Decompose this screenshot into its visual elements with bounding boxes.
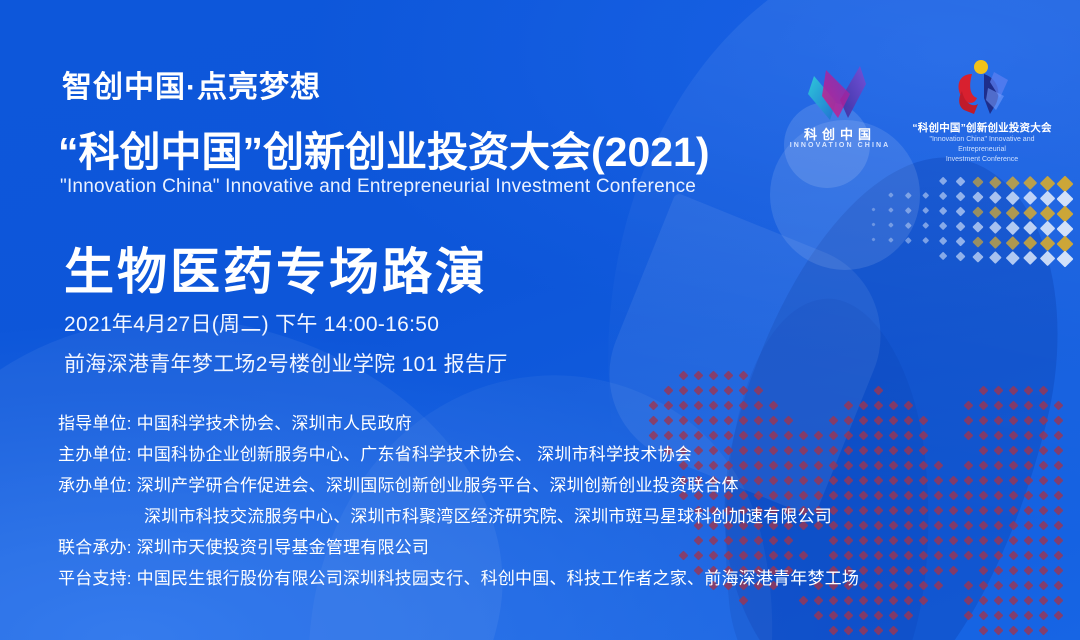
diamond-dot [919, 446, 929, 456]
organizer-value: 中国科协企业创新服务中心、广东省科学技术协会、 深圳市科学技术协会 [137, 445, 692, 464]
diamond-dot [874, 521, 884, 531]
diamond-dot [979, 461, 989, 471]
diamond-dot [1024, 386, 1034, 396]
diamond-dot [1039, 491, 1049, 501]
diamond-dot [1009, 551, 1019, 561]
diamond-dot [679, 371, 689, 381]
diamond-dot [949, 536, 959, 546]
diamond-dot [904, 401, 914, 411]
diamond-dot [889, 611, 899, 621]
diamond-dot [919, 581, 929, 591]
diamond-dot [888, 237, 893, 242]
diamond-dot [889, 536, 899, 546]
diamond-dot [1009, 416, 1019, 426]
diamond-dot [1054, 551, 1064, 561]
poster-title-en: "Innovation China" Innovative and Entrep… [60, 176, 696, 198]
diamond-dot [889, 461, 899, 471]
diamond-dot [874, 461, 884, 471]
session-title: 生物医药专场路演 [64, 232, 488, 304]
diamond-dot [859, 476, 869, 486]
diamond-dot [829, 611, 839, 621]
diamond-dot [844, 611, 854, 621]
diamond-dot [874, 566, 884, 576]
diamond-dot [874, 581, 884, 591]
diamond-dot [1009, 401, 1019, 411]
diamond-dot [904, 431, 914, 441]
diamond-dot [989, 176, 1001, 188]
diamond-dot [904, 476, 914, 486]
diamond-dot [709, 371, 719, 381]
diamond-dot [889, 581, 899, 591]
session-venue: 前海深港青年梦工场2号楼创业学院 101 报告厅 [64, 348, 508, 378]
diamond-dot [934, 506, 944, 516]
organizer-row: 主办单位: 中国科协企业创新服务中心、广东省科学技术协会、 深圳市科学技术协会 [58, 439, 859, 470]
diamond-dot [1006, 191, 1019, 204]
diamond-dot [859, 551, 869, 561]
diamond-dot [874, 446, 884, 456]
poster-title-cn: “科创中国”创新创业投资大会(2021) [58, 118, 710, 178]
diamond-dot [1023, 176, 1038, 191]
diamond-dot [814, 611, 824, 621]
diamond-dot [874, 596, 884, 606]
diamond-dot [939, 207, 948, 216]
diamond-dot [989, 236, 1001, 248]
organizer-row: 深圳市科技交流服务中心、深圳市科聚湾区经济研究院、深圳市斑马星球科创加速有限公司 [58, 501, 859, 532]
diamond-dot [919, 491, 929, 501]
diamond-dot [994, 386, 1004, 396]
diamond-dot [934, 521, 944, 531]
diamond-dot [874, 626, 884, 636]
diamond-dot [874, 536, 884, 546]
diamond-dot [904, 506, 914, 516]
diamond-dot [889, 491, 899, 501]
diamond-dot [1006, 251, 1019, 264]
diamond-dot [904, 521, 914, 531]
diamond-dot [1054, 401, 1064, 411]
diamond-dot [1039, 521, 1049, 531]
diamond-dot [1009, 581, 1019, 591]
diamond-dot [939, 237, 948, 246]
diamond-dot [994, 611, 1004, 621]
diamond-dot [1054, 566, 1064, 576]
diamond-dot [1039, 401, 1049, 411]
diamond-dot [1023, 251, 1038, 266]
organizer-value: 中国科学技术协会、深圳市人民政府 [137, 414, 412, 433]
diamond-dot [994, 506, 1004, 516]
diamond-dot [1006, 206, 1019, 219]
diamond-dot [1009, 461, 1019, 471]
diamond-dot [1040, 206, 1056, 222]
diamond-dot [934, 491, 944, 501]
diamond-dot [859, 446, 869, 456]
diamond-dot [956, 222, 966, 232]
diamond-dot [859, 566, 869, 576]
diamond-dot [1024, 566, 1034, 576]
diamond-dot [679, 386, 689, 396]
running-figure-icon [950, 58, 1012, 118]
diamond-dot [1009, 536, 1019, 546]
diamond-dot [1023, 236, 1038, 251]
diamond-dot [754, 386, 764, 396]
diamond-dot [1039, 416, 1049, 426]
diamond-dot [889, 401, 899, 411]
diamond-dot [956, 237, 966, 247]
diamond-dot [1054, 446, 1064, 456]
diamond-dot [814, 596, 824, 606]
diamond-dot [939, 177, 948, 186]
diamond-dot [874, 551, 884, 561]
diamond-dot [1054, 476, 1064, 486]
organizer-label: 平台支持: [58, 569, 137, 588]
diamond-dot [889, 626, 899, 636]
diamond-dot [664, 386, 674, 396]
diamond-dot [859, 581, 869, 591]
diamond-dot [1024, 416, 1034, 426]
organizer-row: 指导单位: 中国科学技术协会、深圳市人民政府 [58, 408, 859, 439]
diamond-dot [964, 401, 974, 411]
diamond-dot [694, 386, 704, 396]
diamond-dot [972, 236, 983, 247]
diamond-dot [994, 581, 1004, 591]
diamond-dot [1039, 446, 1049, 456]
diamond-dot [949, 521, 959, 531]
diamond-dot [1023, 206, 1038, 221]
diamond-dot [964, 536, 974, 546]
diamond-dot [994, 551, 1004, 561]
diamond-dot [919, 506, 929, 516]
diamond-dot [972, 191, 983, 202]
diamond-dot [1057, 251, 1074, 268]
diamond-dot [949, 551, 959, 561]
diamond-dot [1024, 506, 1034, 516]
diamond-dot [889, 521, 899, 531]
conference-poster: 智创中国·点亮梦想 “科创中国”创新创业投资大会(2021) "Innovati… [0, 0, 1080, 640]
diamond-dot [1039, 386, 1049, 396]
diamond-dot [1024, 611, 1034, 621]
diamond-dot [964, 476, 974, 486]
diamond-dot [964, 431, 974, 441]
logo-group: 科创中国 INNOVATION CHINA “科创中国”创新创业投资大会 "In… [778, 58, 1058, 168]
diamond-dot [994, 461, 1004, 471]
diamond-dot [1006, 236, 1019, 249]
diamond-dot [859, 626, 869, 636]
diamond-dot [874, 476, 884, 486]
diamond-dot [1039, 596, 1049, 606]
diamond-dot [1009, 491, 1019, 501]
diamond-dot [994, 416, 1004, 426]
diamond-dot [934, 566, 944, 576]
diamond-dot [1024, 476, 1034, 486]
diamond-dot [724, 371, 734, 381]
diamond-dot [1024, 626, 1034, 636]
innovation-china-logo: 科创中国 INNOVATION CHINA [778, 58, 898, 168]
diamond-dot [979, 416, 989, 426]
conference-logo-name-en-line1: "Innovation China" Innovative and Entrep… [930, 136, 1035, 153]
diamond-dot [874, 416, 884, 426]
diamond-dot [1024, 551, 1034, 561]
diamond-dot [964, 506, 974, 516]
organizer-row: 平台支持: 中国民生银行股份有限公司深圳科技园支行、科创中国、科技工作者之家、前… [58, 563, 859, 594]
diamond-dot [934, 536, 944, 546]
diamond-dot [1023, 221, 1038, 236]
diamond-dot [964, 596, 974, 606]
diamond-dot [1024, 401, 1034, 411]
diamond-dot [979, 626, 989, 636]
diamond-dot [1057, 206, 1074, 223]
diamond-dot [994, 521, 1004, 531]
diamond-dot [919, 476, 929, 486]
diamond-dot [859, 431, 869, 441]
diamond-dot [1054, 596, 1064, 606]
diamond-dot [1054, 431, 1064, 441]
diamond-dot [934, 551, 944, 561]
diamond-dot [829, 596, 839, 606]
diamond-dot [874, 506, 884, 516]
diamond-dot [904, 596, 914, 606]
diamond-dot [1024, 521, 1034, 531]
diamond-dot [799, 596, 809, 606]
diamond-dot [874, 401, 884, 411]
diamond-dot [739, 596, 749, 606]
diamond-dot [889, 416, 899, 426]
organizer-value: 深圳市天使投资引导基金管理有限公司 [137, 538, 429, 557]
conference-logo-name-en-line2: Investment Conference [946, 156, 1018, 163]
diamond-dot [989, 251, 1001, 263]
diamond-dot [994, 401, 1004, 411]
diamond-dot [922, 207, 930, 215]
diamond-dot [919, 416, 929, 426]
diamond-dot [709, 386, 719, 396]
diamond-dot [1057, 236, 1074, 253]
diamond-dot [979, 506, 989, 516]
diamond-dot [979, 551, 989, 561]
diamond-dot [871, 222, 875, 226]
diamond-dot [956, 177, 966, 187]
diamond-dot [949, 476, 959, 486]
diamond-dot [889, 506, 899, 516]
organizer-label: 联合承办: [58, 538, 137, 557]
conference-logo-name-en: "Innovation China" Innovative and Entrep… [906, 135, 1058, 165]
innovation-china-name-en: INNOVATION CHINA [788, 142, 892, 149]
butterfly-wing-icon [804, 60, 870, 122]
diamond-dot [1024, 581, 1034, 591]
diamond-dot [949, 491, 959, 501]
diamond-dot [1039, 566, 1049, 576]
organizer-label: 承办单位: [58, 476, 137, 495]
diamond-dot [1039, 476, 1049, 486]
diamond-dot [1009, 566, 1019, 576]
diamond-dot [859, 611, 869, 621]
diamond-dot [1039, 581, 1049, 591]
diamond-dot [905, 207, 912, 214]
diamond-dot [994, 491, 1004, 501]
diamond-dot [1009, 476, 1019, 486]
diamond-dot [979, 401, 989, 411]
diamond-dot [994, 566, 1004, 576]
diamond-dot [889, 566, 899, 576]
diamond-dot [1057, 191, 1074, 208]
diamond-dot [919, 431, 929, 441]
diamond-dot [964, 581, 974, 591]
diamond-dot [956, 252, 966, 262]
diamond-dot [1023, 191, 1038, 206]
diamond-dot [939, 222, 948, 231]
diamond-dot [979, 596, 989, 606]
diamond-dot [956, 207, 966, 217]
diamond-dot [1009, 386, 1019, 396]
diamond-dot [1009, 611, 1019, 621]
diamond-dot [939, 252, 948, 261]
diamond-dot [1040, 191, 1056, 207]
diamond-dot [919, 461, 929, 471]
diamond-dot [874, 491, 884, 501]
diamond-dot [1054, 581, 1064, 591]
diamond-dot [1057, 176, 1074, 193]
diamond-dot [1009, 446, 1019, 456]
diamond-dot [859, 461, 869, 471]
diamond-dot [1024, 446, 1034, 456]
diamond-dot [979, 581, 989, 591]
diamond-dot [829, 626, 839, 636]
diamond-dot [844, 626, 854, 636]
diamond-dot [989, 191, 1001, 203]
diamond-dot [934, 461, 944, 471]
diamond-dot [889, 431, 899, 441]
diamond-dot [919, 566, 929, 576]
organizer-row: 联合承办: 深圳市天使投资引导基金管理有限公司 [58, 532, 859, 563]
diamond-dot [956, 192, 966, 202]
diamond-dot [889, 446, 899, 456]
diamond-dot [889, 551, 899, 561]
diamond-dot [739, 386, 749, 396]
diamond-dot [1024, 431, 1034, 441]
diamond-dot [1040, 251, 1056, 267]
diamond-dot [979, 611, 989, 621]
diamond-dot [989, 206, 1001, 218]
diamond-dot [979, 536, 989, 546]
diamond-dot [1024, 491, 1034, 501]
diamond-dot [1039, 536, 1049, 546]
diamond-dot [1024, 461, 1034, 471]
diamond-dot [904, 536, 914, 546]
diamond-dot [739, 371, 749, 381]
diamond-dot [905, 237, 912, 244]
diamond-dot [1006, 176, 1019, 189]
diamond-dot [889, 596, 899, 606]
diamond-dot [979, 491, 989, 501]
diamond-dot [934, 476, 944, 486]
diamond-dot [859, 596, 869, 606]
diamond-dot [1054, 611, 1064, 621]
diamond-dot [1009, 626, 1019, 636]
diamond-dot [994, 431, 1004, 441]
diamond-dot [1054, 491, 1064, 501]
diamond-dot [994, 596, 1004, 606]
diamond-dot [922, 192, 930, 200]
diamond-dot [994, 446, 1004, 456]
diamond-dot [1006, 221, 1019, 234]
diamond-dot [889, 476, 899, 486]
diamond-dot [972, 221, 983, 232]
diamond-dot [994, 626, 1004, 636]
diamond-dot [939, 192, 948, 201]
diamond-dot [979, 476, 989, 486]
innovation-china-name-cn: 科创中国 [788, 124, 892, 143]
diamond-dot [919, 596, 929, 606]
diamond-dot [979, 446, 989, 456]
diamond-dot [871, 237, 875, 241]
diamond-dot [859, 491, 869, 501]
diamond-dot [994, 536, 1004, 546]
diamond-dot [979, 521, 989, 531]
diamond-dot [1009, 506, 1019, 516]
diamond-dot [949, 566, 959, 576]
diamond-dot [874, 431, 884, 441]
organizer-value: 深圳市科技交流服务中心、深圳市科聚湾区经济研究院、深圳市斑马星球科创加速有限公司 [144, 507, 832, 526]
diamond-dot [904, 416, 914, 426]
diamond-dot [1039, 506, 1049, 516]
diamond-dot [979, 566, 989, 576]
session-datetime: 2021年4月27日(周二) 下午 14:00-16:50 [64, 308, 439, 338]
poster-kicker: 智创中国·点亮梦想 [62, 62, 321, 106]
diamond-dot [1040, 176, 1056, 192]
diamond-dot [972, 176, 983, 187]
diamond-dot [874, 386, 884, 396]
diamond-dot [964, 416, 974, 426]
diamond-dot [859, 416, 869, 426]
diamond-dot [859, 521, 869, 531]
diamond-dot [964, 461, 974, 471]
diamond-dot [904, 581, 914, 591]
diamond-dot [964, 611, 974, 621]
diamond-dot [1057, 221, 1074, 238]
diamond-dot [1039, 626, 1049, 636]
diamond-dot [972, 251, 983, 262]
organizer-label: 主办单位: [58, 445, 137, 464]
diamond-dot [874, 611, 884, 621]
diamond-dot [919, 521, 929, 531]
diamond-dot [904, 461, 914, 471]
diamond-dot [972, 206, 983, 217]
diamond-dot [934, 581, 944, 591]
diamond-dot [1039, 611, 1049, 621]
diamond-dot [1024, 536, 1034, 546]
conference-logo: “科创中国”创新创业投资大会 "Innovation China" Innova… [906, 58, 1058, 168]
diamond-dot [949, 506, 959, 516]
diamond-dot [964, 551, 974, 561]
diamond-dot [964, 491, 974, 501]
diamond-dot [1040, 221, 1056, 237]
diamond-dot [1054, 461, 1064, 471]
diamond-dot [1009, 596, 1019, 606]
diamond-dot [1054, 536, 1064, 546]
diamond-dot [905, 192, 912, 199]
organizer-list: 指导单位: 中国科学技术协会、深圳市人民政府主办单位: 中国科协企业创新服务中心… [58, 408, 859, 594]
diamond-dot [904, 611, 914, 621]
diamond-dot [905, 222, 912, 229]
diamond-dot [724, 386, 734, 396]
diamond-dot [871, 207, 875, 211]
diamond-dot [1039, 461, 1049, 471]
diamond-dot [1054, 506, 1064, 516]
diamond-dot [904, 551, 914, 561]
diamond-dot [1054, 521, 1064, 531]
diamond-dot [904, 491, 914, 501]
diamond-dot [1054, 416, 1064, 426]
organizer-label: 指导单位: [58, 414, 137, 433]
conference-logo-name-cn: “科创中国”创新创业投资大会 [906, 120, 1058, 135]
diamond-dot [919, 536, 929, 546]
